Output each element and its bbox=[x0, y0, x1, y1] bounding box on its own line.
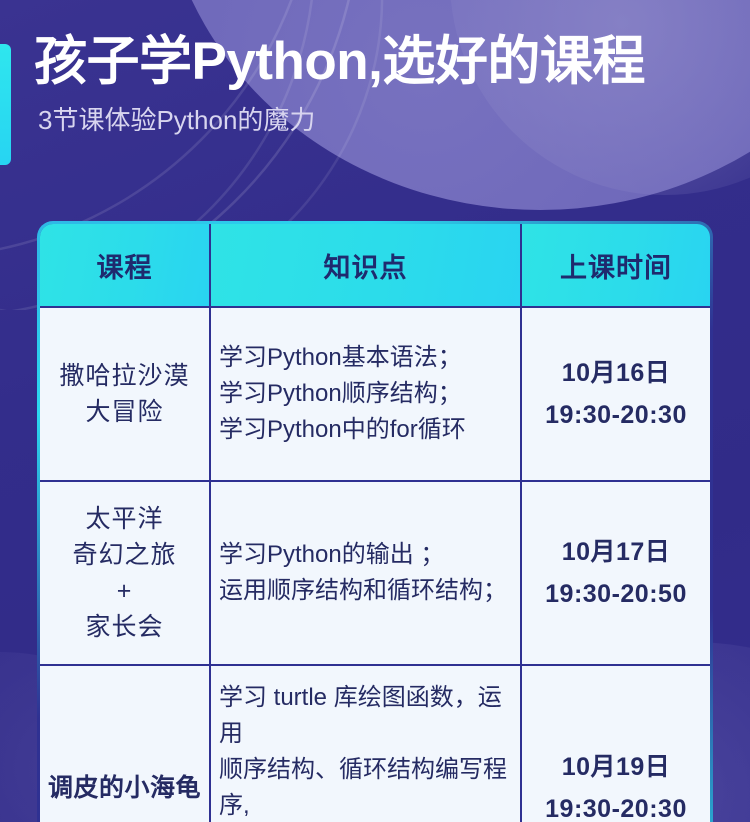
knowledge-point-line: 学习Python中的for循环 bbox=[219, 412, 512, 448]
knowledge-point-line: 运用顺序结构和循环结构； bbox=[219, 573, 512, 609]
cell-knowledge-points: 学习Python的输出 ； 运用顺序结构和循环结构； bbox=[211, 480, 522, 664]
class-time-range: 19:30-20:50 bbox=[530, 573, 702, 615]
table-body: 撒哈拉沙漠 大冒险 学习Python基本语法； 学习Python顺序结构； 学习… bbox=[40, 306, 710, 822]
cell-class-time: 10月19日 19:30-20:30 bbox=[522, 664, 710, 822]
knowledge-point-line: 顺序结构、循环结构编写程序, bbox=[219, 752, 512, 822]
page-subtitle: 3节课体验Python的魔力 bbox=[38, 103, 724, 137]
course-promo-poster: 孩子学Python,选好的课程 3节课体验Python的魔力 课程 知识点 上课… bbox=[0, 0, 750, 822]
course-name-line: 家长会 bbox=[48, 609, 201, 645]
cell-knowledge-points: 学习Python基本语法； 学习Python顺序结构； 学习Python中的fo… bbox=[211, 306, 522, 480]
cell-knowledge-points: 学习 turtle 库绘图函数，运用 顺序结构、循环结构编写程序, 控制小海龟画… bbox=[211, 664, 522, 822]
knowledge-point-line: 学习Python顺序结构； bbox=[219, 376, 512, 412]
course-name-line: 大冒险 bbox=[48, 394, 201, 430]
table-header: 课程 知识点 上课时间 bbox=[40, 224, 710, 306]
course-name-line: 撒哈拉沙漠 bbox=[48, 358, 201, 394]
column-header-class-time: 上课时间 bbox=[522, 224, 710, 306]
class-time-range: 19:30-20:30 bbox=[530, 788, 702, 822]
left-accent-bar bbox=[0, 44, 11, 165]
class-date: 10月19日 bbox=[530, 746, 702, 788]
schedule-table-container: 课程 知识点 上课时间 撒哈拉沙漠 大冒险 学习Python基本语法； 学习Py… bbox=[37, 221, 713, 822]
knowledge-point-line: 学习Python基本语法； bbox=[219, 340, 512, 376]
course-name-line: 太平洋 bbox=[48, 501, 201, 537]
cell-course-name: 调皮的小海龟 bbox=[40, 664, 211, 822]
knowledge-point-line: 学习Python的输出 ； bbox=[219, 537, 512, 573]
course-name-line: 调皮的小海龟 bbox=[48, 770, 201, 806]
knowledge-point-line: 学习 turtle 库绘图函数，运用 bbox=[219, 680, 512, 752]
cell-class-time: 10月16日 19:30-20:30 bbox=[522, 306, 710, 480]
cell-course-name: 太平洋 奇幻之旅 + 家长会 bbox=[40, 480, 211, 664]
cell-class-time: 10月17日 19:30-20:50 bbox=[522, 480, 710, 664]
table-row: 太平洋 奇幻之旅 + 家长会 学习Python的输出 ； 运用顺序结构和循环结构… bbox=[40, 480, 710, 664]
class-date: 10月16日 bbox=[530, 352, 702, 394]
table-row: 撒哈拉沙漠 大冒险 学习Python基本语法； 学习Python顺序结构； 学习… bbox=[40, 306, 710, 480]
column-header-course: 课程 bbox=[40, 224, 211, 306]
class-time-range: 19:30-20:30 bbox=[530, 394, 702, 436]
page-title: 孩子学Python,选好的课程 bbox=[34, 30, 724, 94]
course-name-line: 奇幻之旅 bbox=[48, 537, 201, 573]
class-date: 10月17日 bbox=[530, 531, 702, 573]
column-header-knowledge-points: 知识点 bbox=[211, 224, 522, 306]
poster-heading: 孩子学Python,选好的课程 3节课体验Python的魔力 bbox=[34, 30, 724, 137]
table-header-row: 课程 知识点 上课时间 bbox=[40, 224, 710, 306]
course-name-line: + bbox=[48, 573, 201, 609]
cell-course-name: 撒哈拉沙漠 大冒险 bbox=[40, 306, 211, 480]
schedule-table: 课程 知识点 上课时间 撒哈拉沙漠 大冒险 学习Python基本语法； 学习Py… bbox=[40, 224, 710, 822]
table-row: 调皮的小海龟 学习 turtle 库绘图函数，运用 顺序结构、循环结构编写程序,… bbox=[40, 664, 710, 822]
